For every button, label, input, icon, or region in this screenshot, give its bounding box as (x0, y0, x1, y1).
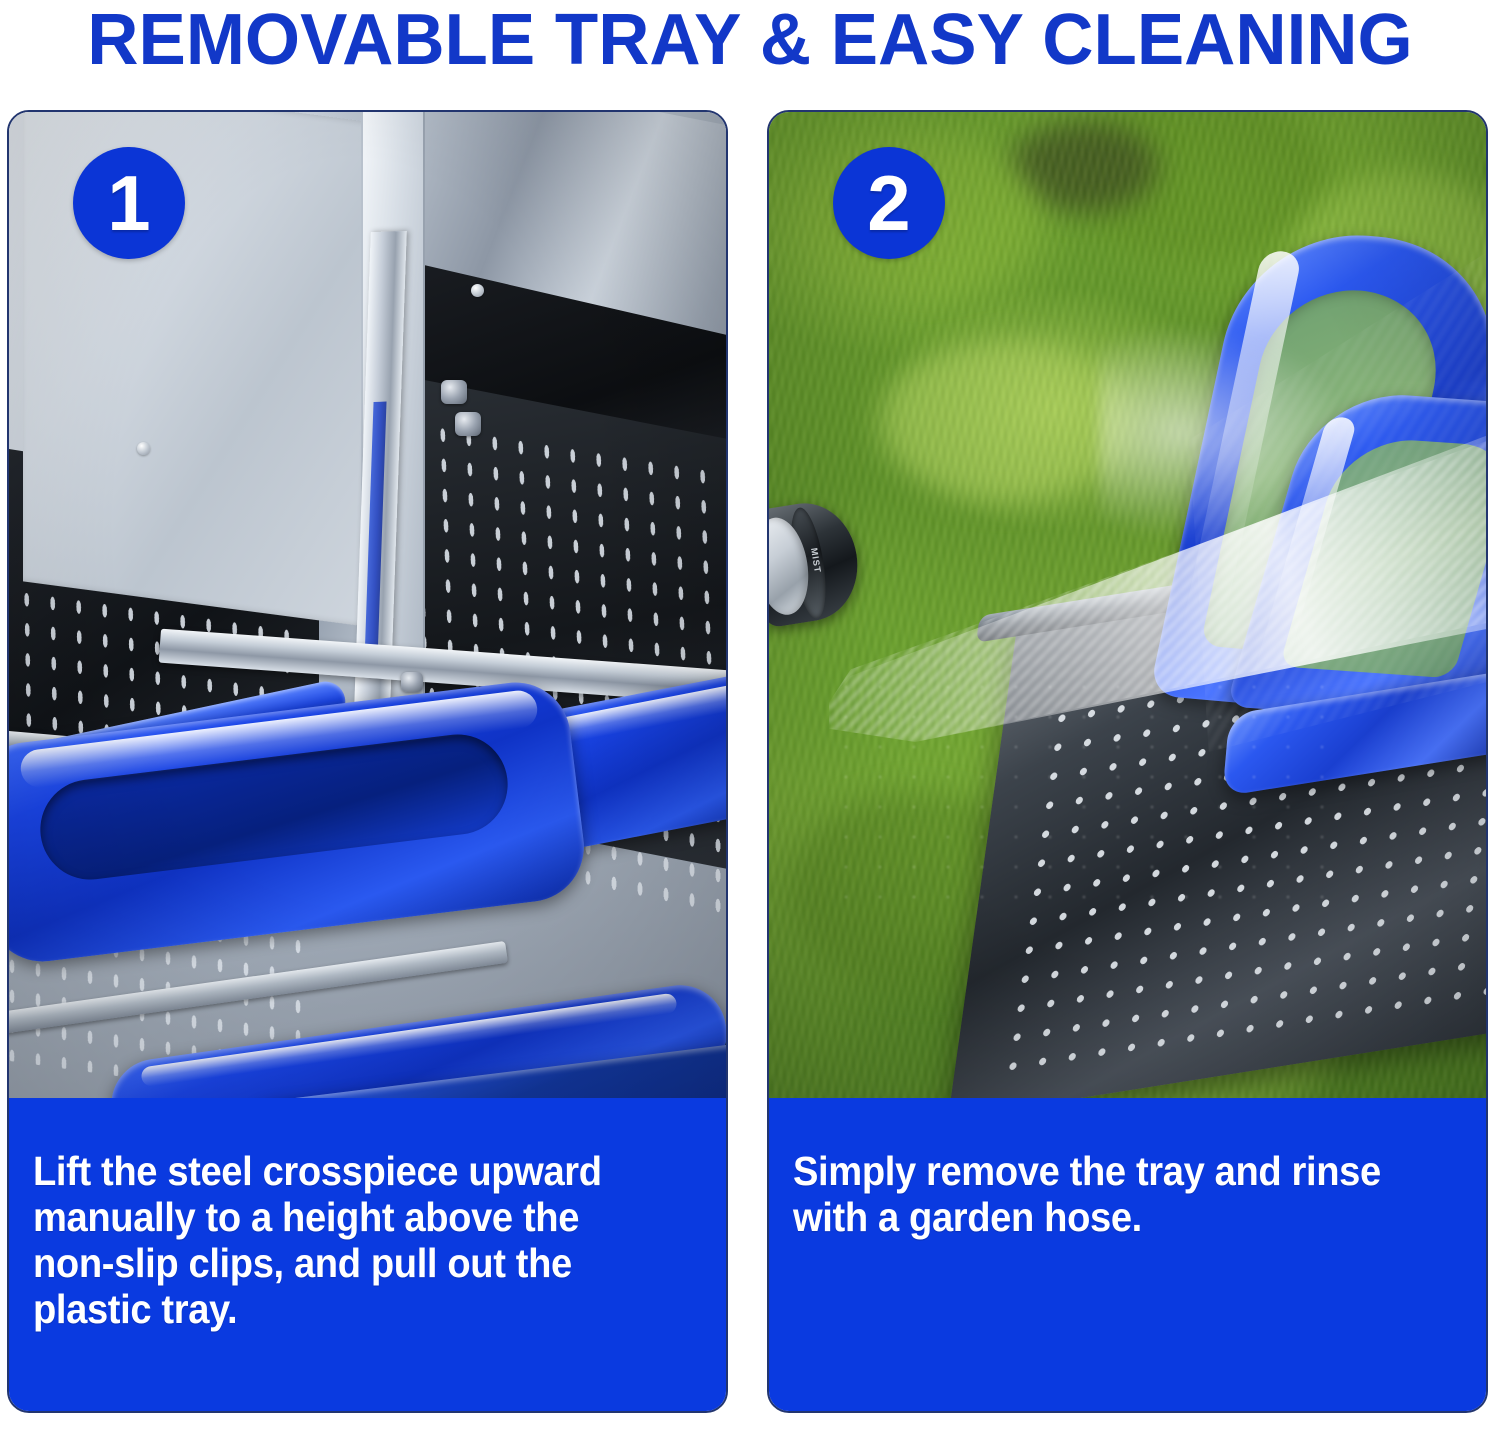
page-title: REMOVABLE TRAY & EASY CLEANING (11, 0, 1489, 86)
step-1-photo: 1 (9, 112, 726, 1102)
step-panel-1: 1 Lift the steel crosspiece upward manua… (7, 110, 728, 1413)
step-1-caption-band: Lift the steel crosspiece upward manuall… (9, 1098, 726, 1411)
step-2-caption-band: Simply remove the tray and rinse with a … (769, 1098, 1486, 1411)
rivet-icon (471, 284, 484, 297)
water-droplets (829, 672, 1349, 902)
crosspiece-bolt-icon (401, 672, 423, 692)
rivet-icon (137, 442, 150, 455)
garden-hose-nozzle: MIST (769, 494, 881, 629)
bolt-icon (441, 380, 467, 404)
step-2-caption-text: Simply remove the tray and rinse with a … (793, 1148, 1415, 1240)
step-2-photo: MIST 2 (769, 112, 1486, 1102)
steps-container: 1 Lift the steel crosspiece upward manua… (7, 110, 1493, 1415)
step-panel-2: MIST 2 Simply remove the tray and rinse … (767, 110, 1488, 1413)
step-badge-2: 2 (833, 147, 945, 259)
infographic-root: REMOVABLE TRAY & EASY CLEANING (0, 0, 1500, 1430)
step-badge-1: 1 (73, 147, 185, 259)
step-1-caption-text: Lift the steel crosspiece upward manuall… (33, 1148, 655, 1332)
bolt-icon (455, 412, 481, 436)
